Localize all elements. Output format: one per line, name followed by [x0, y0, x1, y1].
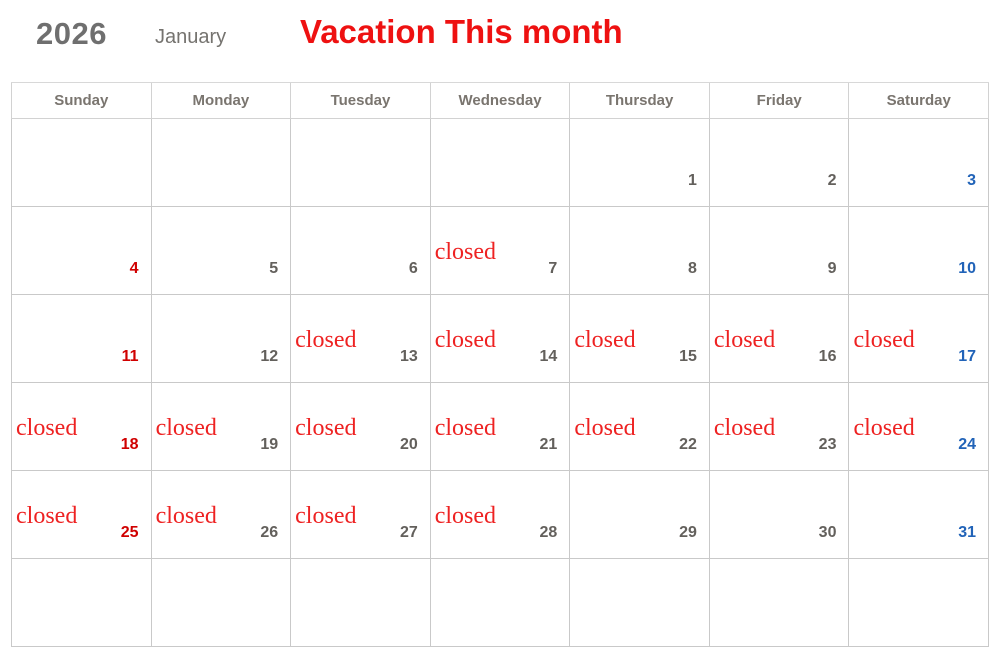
week-row: closed25closed26closed27closed28293031	[11, 471, 989, 559]
day-number: 28	[540, 524, 558, 542]
day-number: 8	[688, 260, 697, 278]
weekday-header-sunday: Sunday	[11, 83, 152, 118]
weekday-header-saturday: Saturday	[849, 83, 989, 118]
event-label-closed: closed	[574, 415, 635, 441]
weekday-header-thursday: Thursday	[570, 83, 710, 118]
day-cell-28[interactable]: closed28	[431, 471, 571, 558]
weekday-header-tuesday: Tuesday	[291, 83, 431, 118]
calendar-header: 2026 January Vacation This month	[0, 0, 1000, 72]
day-cell-21[interactable]: closed21	[431, 383, 571, 470]
week-row: 1112closed13closed14closed15closed16clos…	[11, 295, 989, 383]
day-number: 16	[819, 348, 837, 366]
day-number: 31	[958, 524, 976, 542]
day-cell-empty	[291, 559, 431, 646]
event-label-closed: closed	[295, 415, 356, 441]
event-label-closed: closed	[435, 415, 496, 441]
day-cell-31[interactable]: 31	[849, 471, 989, 558]
day-number: 6	[409, 260, 418, 278]
weekday-header-row: Sunday Monday Tuesday Wednesday Thursday…	[11, 82, 989, 119]
day-cell-9[interactable]: 9	[710, 207, 850, 294]
event-label-closed: closed	[156, 415, 217, 441]
event-label-closed: closed	[435, 503, 496, 529]
day-cell-7[interactable]: closed7	[431, 207, 571, 294]
day-cell-5[interactable]: 5	[152, 207, 292, 294]
week-row: 456closed78910	[11, 207, 989, 295]
weekday-header-monday: Monday	[152, 83, 292, 118]
event-label-closed: closed	[574, 327, 635, 353]
day-cell-2[interactable]: 2	[710, 119, 850, 206]
day-number: 15	[679, 348, 697, 366]
day-cell-12[interactable]: 12	[152, 295, 292, 382]
day-cell-empty	[152, 559, 292, 646]
day-cell-30[interactable]: 30	[710, 471, 850, 558]
day-cell-empty	[152, 119, 292, 206]
day-cell-empty	[849, 559, 989, 646]
day-number: 1	[688, 172, 697, 190]
day-number: 24	[958, 436, 976, 454]
day-number: 4	[130, 260, 139, 278]
day-number: 3	[967, 172, 976, 190]
day-number: 19	[260, 436, 278, 454]
day-cell-17[interactable]: closed17	[849, 295, 989, 382]
event-label-closed: closed	[435, 239, 496, 265]
day-cell-15[interactable]: closed15	[570, 295, 710, 382]
day-number: 20	[400, 436, 418, 454]
day-cell-18[interactable]: closed18	[11, 383, 152, 470]
day-number: 21	[540, 436, 558, 454]
week-row: closed18closed19closed20closed21closed22…	[11, 383, 989, 471]
event-label-closed: closed	[295, 327, 356, 353]
day-number: 29	[679, 524, 697, 542]
day-cell-empty	[710, 559, 850, 646]
day-cell-empty	[431, 559, 571, 646]
day-number: 12	[260, 348, 278, 366]
day-cell-empty	[291, 119, 431, 206]
day-cell-22[interactable]: closed22	[570, 383, 710, 470]
day-cell-10[interactable]: 10	[849, 207, 989, 294]
day-cell-14[interactable]: closed14	[431, 295, 571, 382]
day-number: 17	[958, 348, 976, 366]
day-number: 11	[122, 348, 139, 366]
day-number: 27	[400, 524, 418, 542]
day-number: 25	[121, 524, 139, 542]
event-label-closed: closed	[156, 503, 217, 529]
day-number: 22	[679, 436, 697, 454]
event-label-closed: closed	[714, 327, 775, 353]
day-cell-25[interactable]: closed25	[11, 471, 152, 558]
day-cell-16[interactable]: closed16	[710, 295, 850, 382]
day-cell-29[interactable]: 29	[570, 471, 710, 558]
day-number: 10	[958, 260, 976, 278]
page-title: Vacation This month	[300, 10, 623, 54]
day-number: 5	[269, 260, 278, 278]
day-number: 26	[260, 524, 278, 542]
day-number: 2	[828, 172, 837, 190]
event-label-closed: closed	[16, 415, 77, 441]
weekday-header-wednesday: Wednesday	[431, 83, 571, 118]
day-cell-empty	[570, 559, 710, 646]
day-number: 14	[540, 348, 558, 366]
day-number: 23	[819, 436, 837, 454]
weekday-header-friday: Friday	[710, 83, 850, 118]
day-cell-1[interactable]: 1	[570, 119, 710, 206]
week-row	[11, 559, 989, 647]
day-cell-8[interactable]: 8	[570, 207, 710, 294]
event-label-closed: closed	[435, 327, 496, 353]
event-label-closed: closed	[853, 415, 914, 441]
day-cell-24[interactable]: closed24	[849, 383, 989, 470]
year-label: 2026	[36, 14, 107, 54]
event-label-closed: closed	[16, 503, 77, 529]
day-number: 7	[548, 260, 557, 278]
day-number: 30	[819, 524, 837, 542]
weeks-container: 123456closed789101112closed13closed14clo…	[11, 119, 989, 647]
day-cell-6[interactable]: 6	[291, 207, 431, 294]
day-cell-20[interactable]: closed20	[291, 383, 431, 470]
event-label-closed: closed	[853, 327, 914, 353]
day-number: 9	[828, 260, 837, 278]
day-cell-empty	[11, 559, 152, 646]
day-cell-27[interactable]: closed27	[291, 471, 431, 558]
event-label-closed: closed	[295, 503, 356, 529]
month-label: January	[155, 20, 226, 54]
event-label-closed: closed	[714, 415, 775, 441]
day-number: 13	[400, 348, 418, 366]
day-cell-4[interactable]: 4	[11, 207, 152, 294]
day-cell-11[interactable]: 11	[11, 295, 152, 382]
calendar-grid: Sunday Monday Tuesday Wednesday Thursday…	[11, 82, 989, 647]
day-cell-23[interactable]: closed23	[710, 383, 850, 470]
day-cell-empty	[11, 119, 152, 206]
day-cell-3[interactable]: 3	[849, 119, 989, 206]
day-cell-empty	[431, 119, 571, 206]
day-cell-19[interactable]: closed19	[152, 383, 292, 470]
day-cell-13[interactable]: closed13	[291, 295, 431, 382]
day-number: 18	[121, 436, 139, 454]
week-row: 123	[11, 119, 989, 207]
day-cell-26[interactable]: closed26	[152, 471, 292, 558]
